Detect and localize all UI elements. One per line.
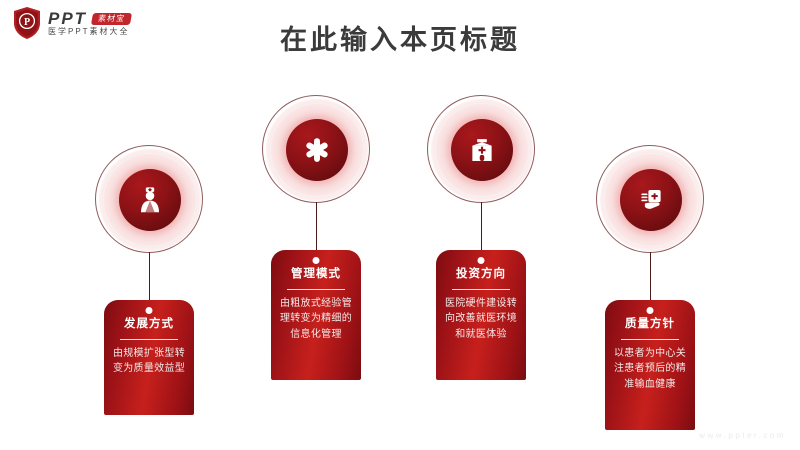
connector-line-2: [316, 202, 317, 254]
card-divider: [452, 289, 510, 290]
star-of-life-icon: [286, 119, 348, 181]
icon-circle-1[interactable]: [95, 145, 205, 255]
card-hole: [647, 307, 654, 314]
icon-circle-3[interactable]: [427, 95, 537, 205]
page-title: 在此输入本页标题: [0, 18, 800, 57]
hand-medical-kit-icon: [620, 169, 682, 231]
info-card-4[interactable]: 质量方针 以患者为中心关注患者预后的精准输血健康: [605, 300, 695, 430]
info-card-3[interactable]: 投资方向 医院硬件建设转向改善就医环境和就医体验: [436, 250, 526, 380]
card-title: 投资方向: [442, 268, 520, 282]
info-card-2[interactable]: 管理模式 由粗放式经验管理转变为精细的信息化管理: [271, 250, 361, 380]
card-divider: [287, 289, 345, 290]
icon-circle-4[interactable]: [596, 145, 706, 255]
card-title: 质量方针: [611, 318, 689, 332]
card-body: 由粗放式经验管理转变为精细的信息化管理: [277, 296, 355, 343]
connector-line-3: [481, 202, 482, 254]
site-watermark: www.ppter.com: [699, 431, 786, 440]
card-body: 医院硬件建设转向改善就医环境和就医体验: [442, 296, 520, 343]
connector-line-1: [149, 252, 150, 304]
card-hole: [478, 257, 485, 264]
card-divider: [120, 339, 178, 340]
card-body: 由规模扩张型转变为质量效益型: [110, 346, 188, 377]
nurse-icon: [119, 169, 181, 231]
card-title: 管理模式: [277, 268, 355, 282]
hospital-building-icon: [451, 119, 513, 181]
connector-line-4: [650, 252, 651, 304]
card-hole: [313, 257, 320, 264]
card-hole: [146, 307, 153, 314]
info-card-1[interactable]: 发展方式 由规模扩张型转变为质量效益型: [104, 300, 194, 415]
icon-circle-2[interactable]: [262, 95, 372, 205]
card-title: 发展方式: [110, 318, 188, 332]
card-body: 以患者为中心关注患者预后的精准输血健康: [611, 346, 689, 393]
card-divider: [621, 339, 679, 340]
